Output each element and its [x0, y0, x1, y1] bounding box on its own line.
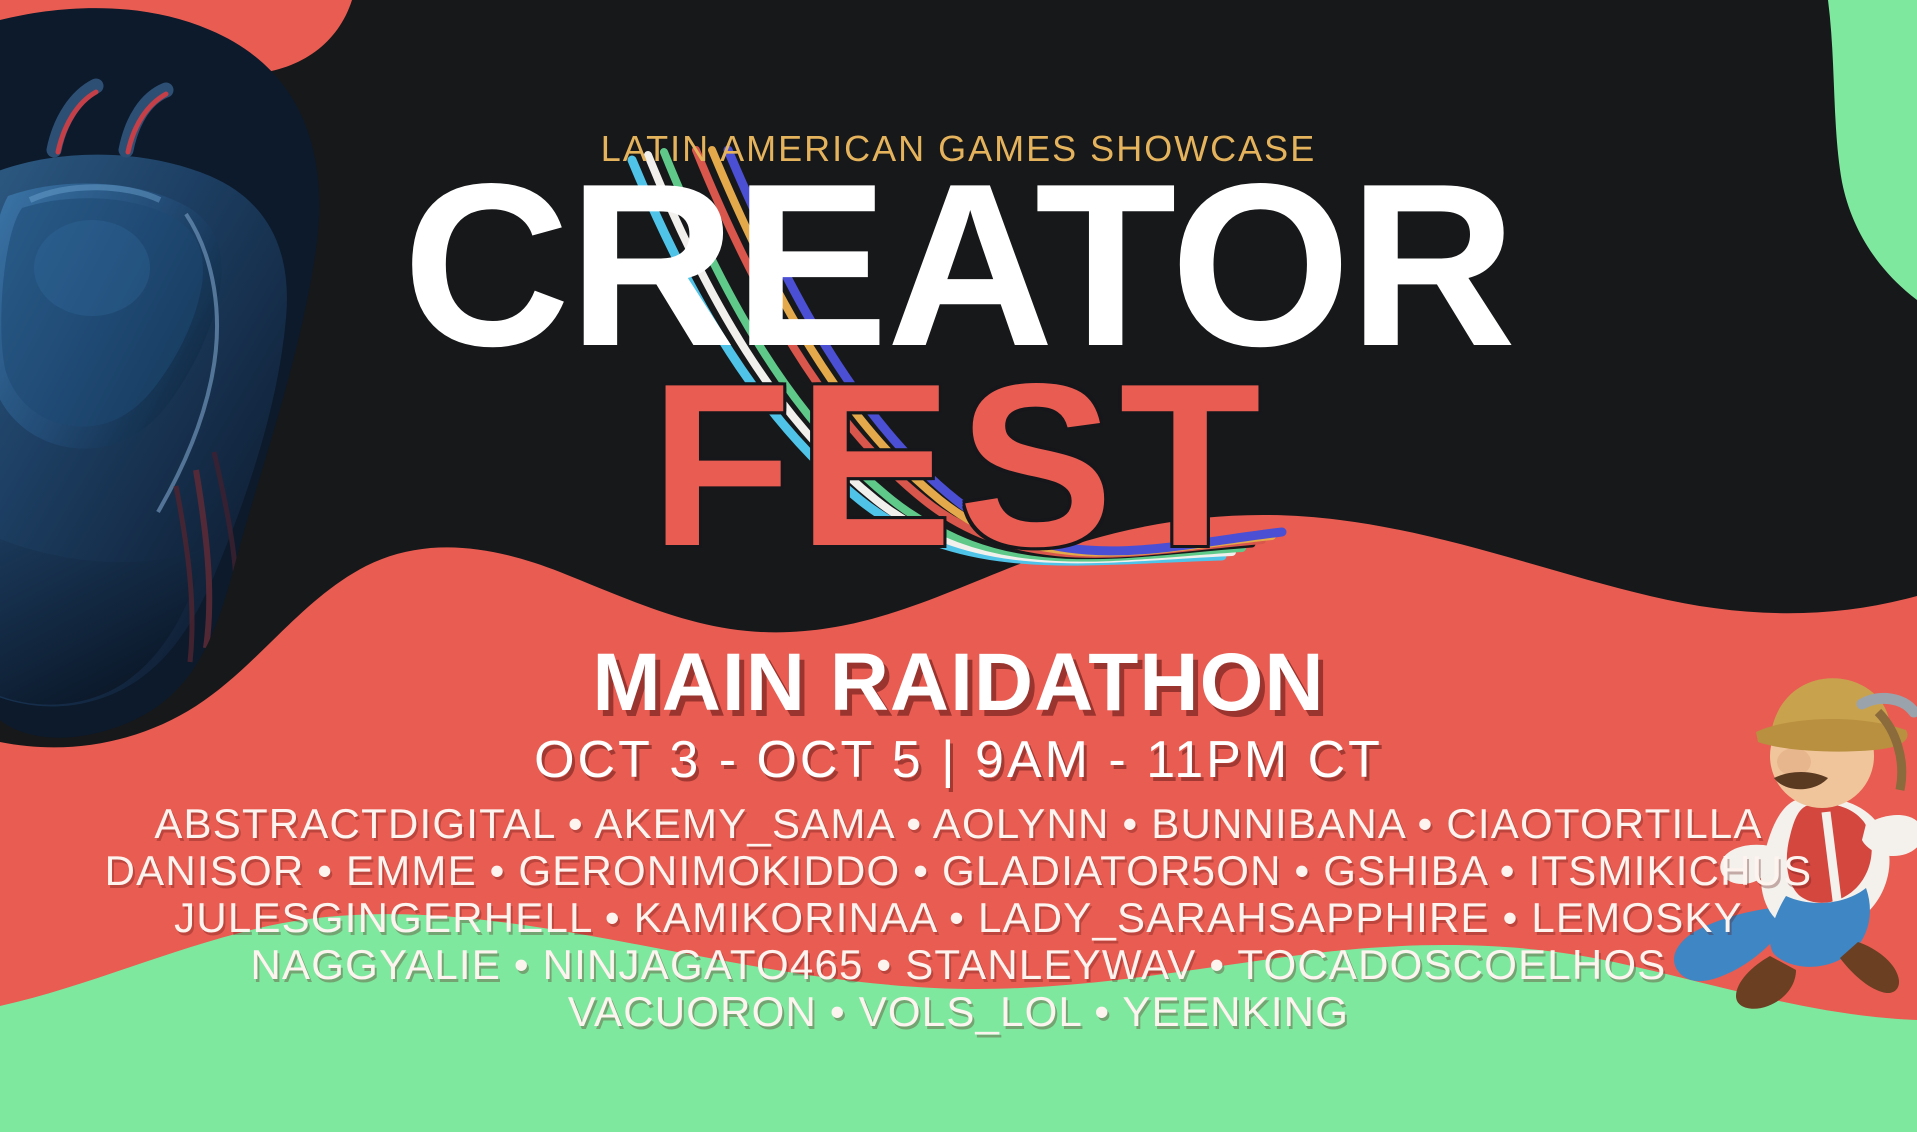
poster-canvas: LATIN AMERICAN GAMES SHOWCASE CREATOR FE… — [0, 0, 1917, 1132]
page-title-fest: FEST — [0, 350, 1917, 582]
event-subtitle: MAIN RAIDATHON — [0, 636, 1917, 730]
creator-row: VACUORON • VOLS_LOL • YEENKING — [0, 988, 1917, 1035]
event-date-range: OCT 3 - OCT 5 | 9AM - 11PM CT — [0, 730, 1917, 790]
creator-row: DANISOR • EMME • GERONIMOKIDDO • GLADIAT… — [0, 847, 1917, 894]
mint-dot-bottomright — [1736, 1041, 1778, 1083]
creator-row: ABSTRACTDIGITAL • AKEMY_SAMA • AOLYNN • … — [0, 800, 1917, 847]
creator-row: NAGGYALIE • NINJAGATO465 • STANLEYWAV • … — [0, 941, 1917, 988]
creator-list: ABSTRACTDIGITAL • AKEMY_SAMA • AOLYNN • … — [0, 800, 1917, 1035]
poster-content: LATIN AMERICAN GAMES SHOWCASE CREATOR FE… — [0, 0, 1917, 1132]
creator-row: JULESGINGERHELL • KAMIKORINAA • LADY_SAR… — [0, 894, 1917, 941]
